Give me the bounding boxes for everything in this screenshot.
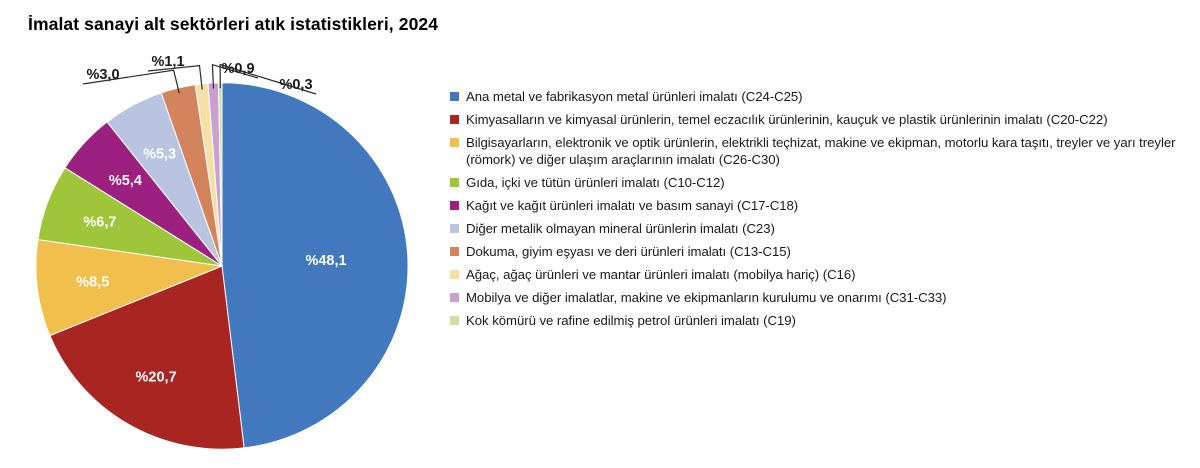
pie-slice-value-label: %3,0 [86,67,119,83]
legend-item-label: Kimyasalların ve kimyasal ürünlerin, tem… [466,111,1108,128]
pie-slice-value-label: %6,7 [83,214,116,230]
legend-item[interactable]: Kağıt ve kağıt ürünleri imalatı ve basım… [450,197,1192,214]
legend-color-swatch [450,178,459,187]
legend-color-swatch [450,270,459,279]
pie-slice-value-label: %8,5 [76,275,109,291]
legend-item[interactable]: Dokuma, giyim eşyası ve deri ürünleri im… [450,243,1192,260]
legend-item[interactable]: Ağaç, ağaç ürünleri ve mantar ürünleri i… [450,266,1192,283]
pie-slice-value-label: %0,9 [221,61,254,77]
legend-item-label: Kok kömürü ve rafine edilmiş petrol ürün… [466,312,796,329]
legend-item[interactable]: Mobilya ve diğer imalatlar, makine ve ek… [450,289,1192,306]
legend-item-label: Bilgisayarların, elektronik ve optik ürü… [466,134,1192,168]
legend-item[interactable]: Gıda, içki ve tütün ürünleri imalatı (C1… [450,174,1192,191]
legend-item-label: Ana metal ve fabrikasyon metal ürünleri … [466,88,803,105]
legend-color-swatch [450,92,459,101]
legend-color-swatch [450,201,459,210]
pie-slice-value-label: %5,4 [109,173,142,189]
legend-item[interactable]: Diğer metalik olmayan mineral ürünlerin … [450,220,1192,237]
legend: Ana metal ve fabrikasyon metal ürünleri … [450,88,1192,335]
legend-color-swatch [450,316,459,325]
pie-slices [36,83,408,449]
legend-color-swatch [450,224,459,233]
pie-slice-value-label: %0,3 [279,77,312,93]
legend-item-label: Mobilya ve diğer imalatlar, makine ve ek… [466,289,946,306]
legend-color-swatch [450,138,459,147]
legend-item-label: Dokuma, giyim eşyası ve deri ürünleri im… [466,243,791,260]
legend-color-swatch [450,247,459,256]
pie-chart: %48,1%20,7%8,5%6,7%5,4%5,3%3,0%1,1%0,9%0… [0,44,440,468]
legend-item[interactable]: Ana metal ve fabrikasyon metal ürünleri … [450,88,1192,105]
legend-item-label: Diğer metalik olmayan mineral ürünlerin … [466,220,775,237]
page-title: İmalat sanayi alt sektörleri atık istati… [28,14,438,35]
legend-item-label: Ağaç, ağaç ürünleri ve mantar ürünleri i… [466,266,855,283]
legend-item-label: Gıda, içki ve tütün ürünleri imalatı (C1… [466,174,725,191]
legend-item[interactable]: Bilgisayarların, elektronik ve optik ürü… [450,134,1192,168]
pie-slice-value-label: %1,1 [151,54,184,70]
legend-item-label: Kağıt ve kağıt ürünleri imalatı ve basım… [466,197,798,214]
legend-color-swatch [450,115,459,124]
pie-slice-value-label: %5,3 [143,146,176,162]
legend-item[interactable]: Kimyasalların ve kimyasal ürünlerin, tem… [450,111,1192,128]
legend-color-swatch [450,293,459,302]
legend-item[interactable]: Kok kömürü ve rafine edilmiş petrol ürün… [450,312,1192,329]
pie-slice-value-label: %48,1 [305,253,346,269]
pie-slice-value-label: %20,7 [136,370,177,386]
pie-chart-svg: %48,1%20,7%8,5%6,7%5,4%5,3%3,0%1,1%0,9%0… [0,44,440,468]
